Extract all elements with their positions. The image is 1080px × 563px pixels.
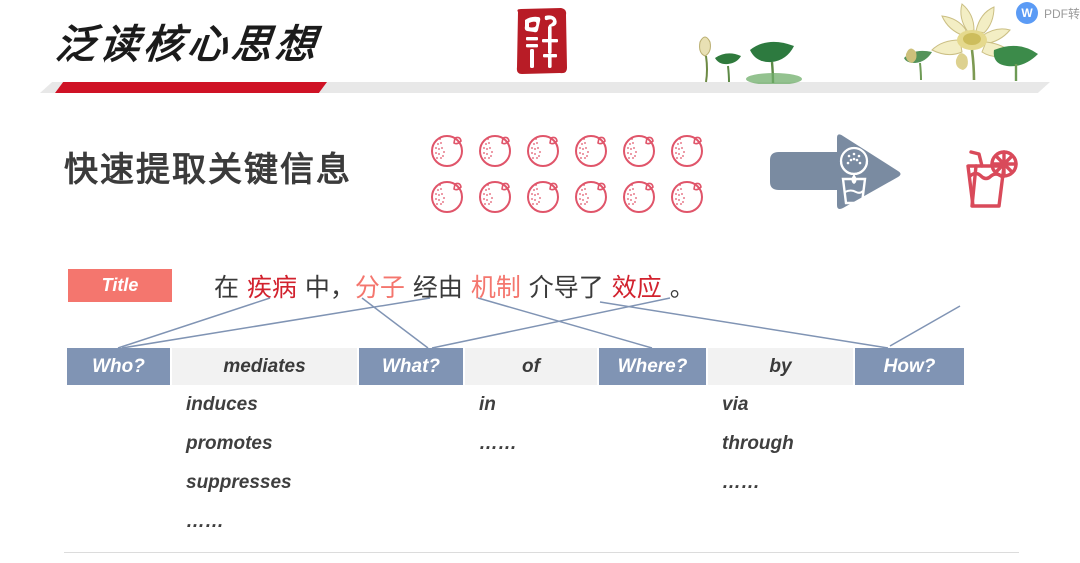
table-cell — [359, 463, 463, 502]
wps-watermark: W PDF转 — [1016, 2, 1080, 24]
section-subtitle: 快速提取关键信息 — [64, 142, 352, 191]
table-header-cell: What? — [359, 348, 463, 385]
wps-logo-icon: W — [1016, 2, 1038, 24]
table-row: inducesinvia — [67, 385, 964, 424]
table-cell — [855, 424, 964, 463]
table-cell — [855, 502, 964, 541]
table-cell: promotes — [172, 424, 357, 463]
table-body: inducesinviapromotes……throughsuppresses…… — [67, 385, 964, 541]
fruit-outline-icon — [620, 130, 668, 174]
fruit-outline-icon — [620, 176, 668, 220]
table-cell: …… — [708, 463, 853, 502]
table-cell — [708, 502, 853, 541]
table-cell — [599, 463, 706, 502]
arrow-juicer-right-icon — [766, 134, 902, 212]
table-cell — [67, 502, 170, 541]
bottom-divider — [64, 552, 1019, 553]
table-cell: suppresses — [172, 463, 357, 502]
table-cell: via — [708, 385, 853, 424]
fruit-outline-icon — [524, 130, 572, 174]
page-title: 泛读核心思想 — [53, 12, 323, 70]
juice-glass-with-straw-icon — [952, 144, 1024, 216]
table-cell: …… — [172, 502, 357, 541]
table-cell — [67, 385, 170, 424]
fruit-outline-icon — [428, 176, 476, 220]
table-cell — [599, 385, 706, 424]
connector-lines — [0, 290, 1080, 352]
table-cell — [465, 502, 597, 541]
wps-watermark-label: PDF转 — [1044, 5, 1080, 22]
table-cell: through — [708, 424, 853, 463]
table-cell — [855, 385, 964, 424]
table-cell — [855, 463, 964, 502]
fruit-icon-grid — [428, 130, 716, 220]
table-row: suppresses…… — [67, 463, 964, 502]
fruit-outline-icon — [524, 176, 572, 220]
table-header-cell: mediates — [172, 348, 357, 385]
table-header-cell: Where? — [599, 348, 706, 385]
chinese-seal-stamp-icon — [512, 6, 570, 76]
fruit-outline-icon — [476, 130, 524, 174]
table-header-cell: of — [465, 348, 597, 385]
table-cell — [359, 424, 463, 463]
fruit-outline-icon — [668, 130, 716, 174]
table-header-cell: by — [708, 348, 853, 385]
lotus-bud-and-leaf-icon — [686, 22, 826, 84]
table-cell — [465, 463, 597, 502]
slide: 泛读核心思想 — [0, 0, 1080, 563]
table-cell — [359, 385, 463, 424]
table-cell — [67, 424, 170, 463]
table-cell: …… — [465, 424, 597, 463]
fruit-outline-icon — [668, 176, 716, 220]
fruit-outline-icon — [572, 176, 620, 220]
accent-bar-red — [55, 82, 327, 93]
fruit-outline-icon — [428, 130, 476, 174]
table-cell — [359, 502, 463, 541]
question-frame-table: Who?mediatesWhat?ofWhere?byHow? inducesi… — [65, 348, 966, 541]
slide-header: 泛读核心思想 — [0, 0, 1080, 100]
fruit-outline-icon — [476, 176, 524, 220]
table-cell: induces — [172, 385, 357, 424]
table-header-cell: Who? — [67, 348, 170, 385]
table-cell: in — [465, 385, 597, 424]
table-row: …… — [67, 502, 964, 541]
table-row: promotes……through — [67, 424, 964, 463]
table-header-cell: How? — [855, 348, 964, 385]
table-cell — [599, 502, 706, 541]
table-cell — [67, 463, 170, 502]
table-header-row: Who?mediatesWhat?ofWhere?byHow? — [67, 348, 964, 385]
fruit-outline-icon — [572, 130, 620, 174]
table-cell — [599, 424, 706, 463]
